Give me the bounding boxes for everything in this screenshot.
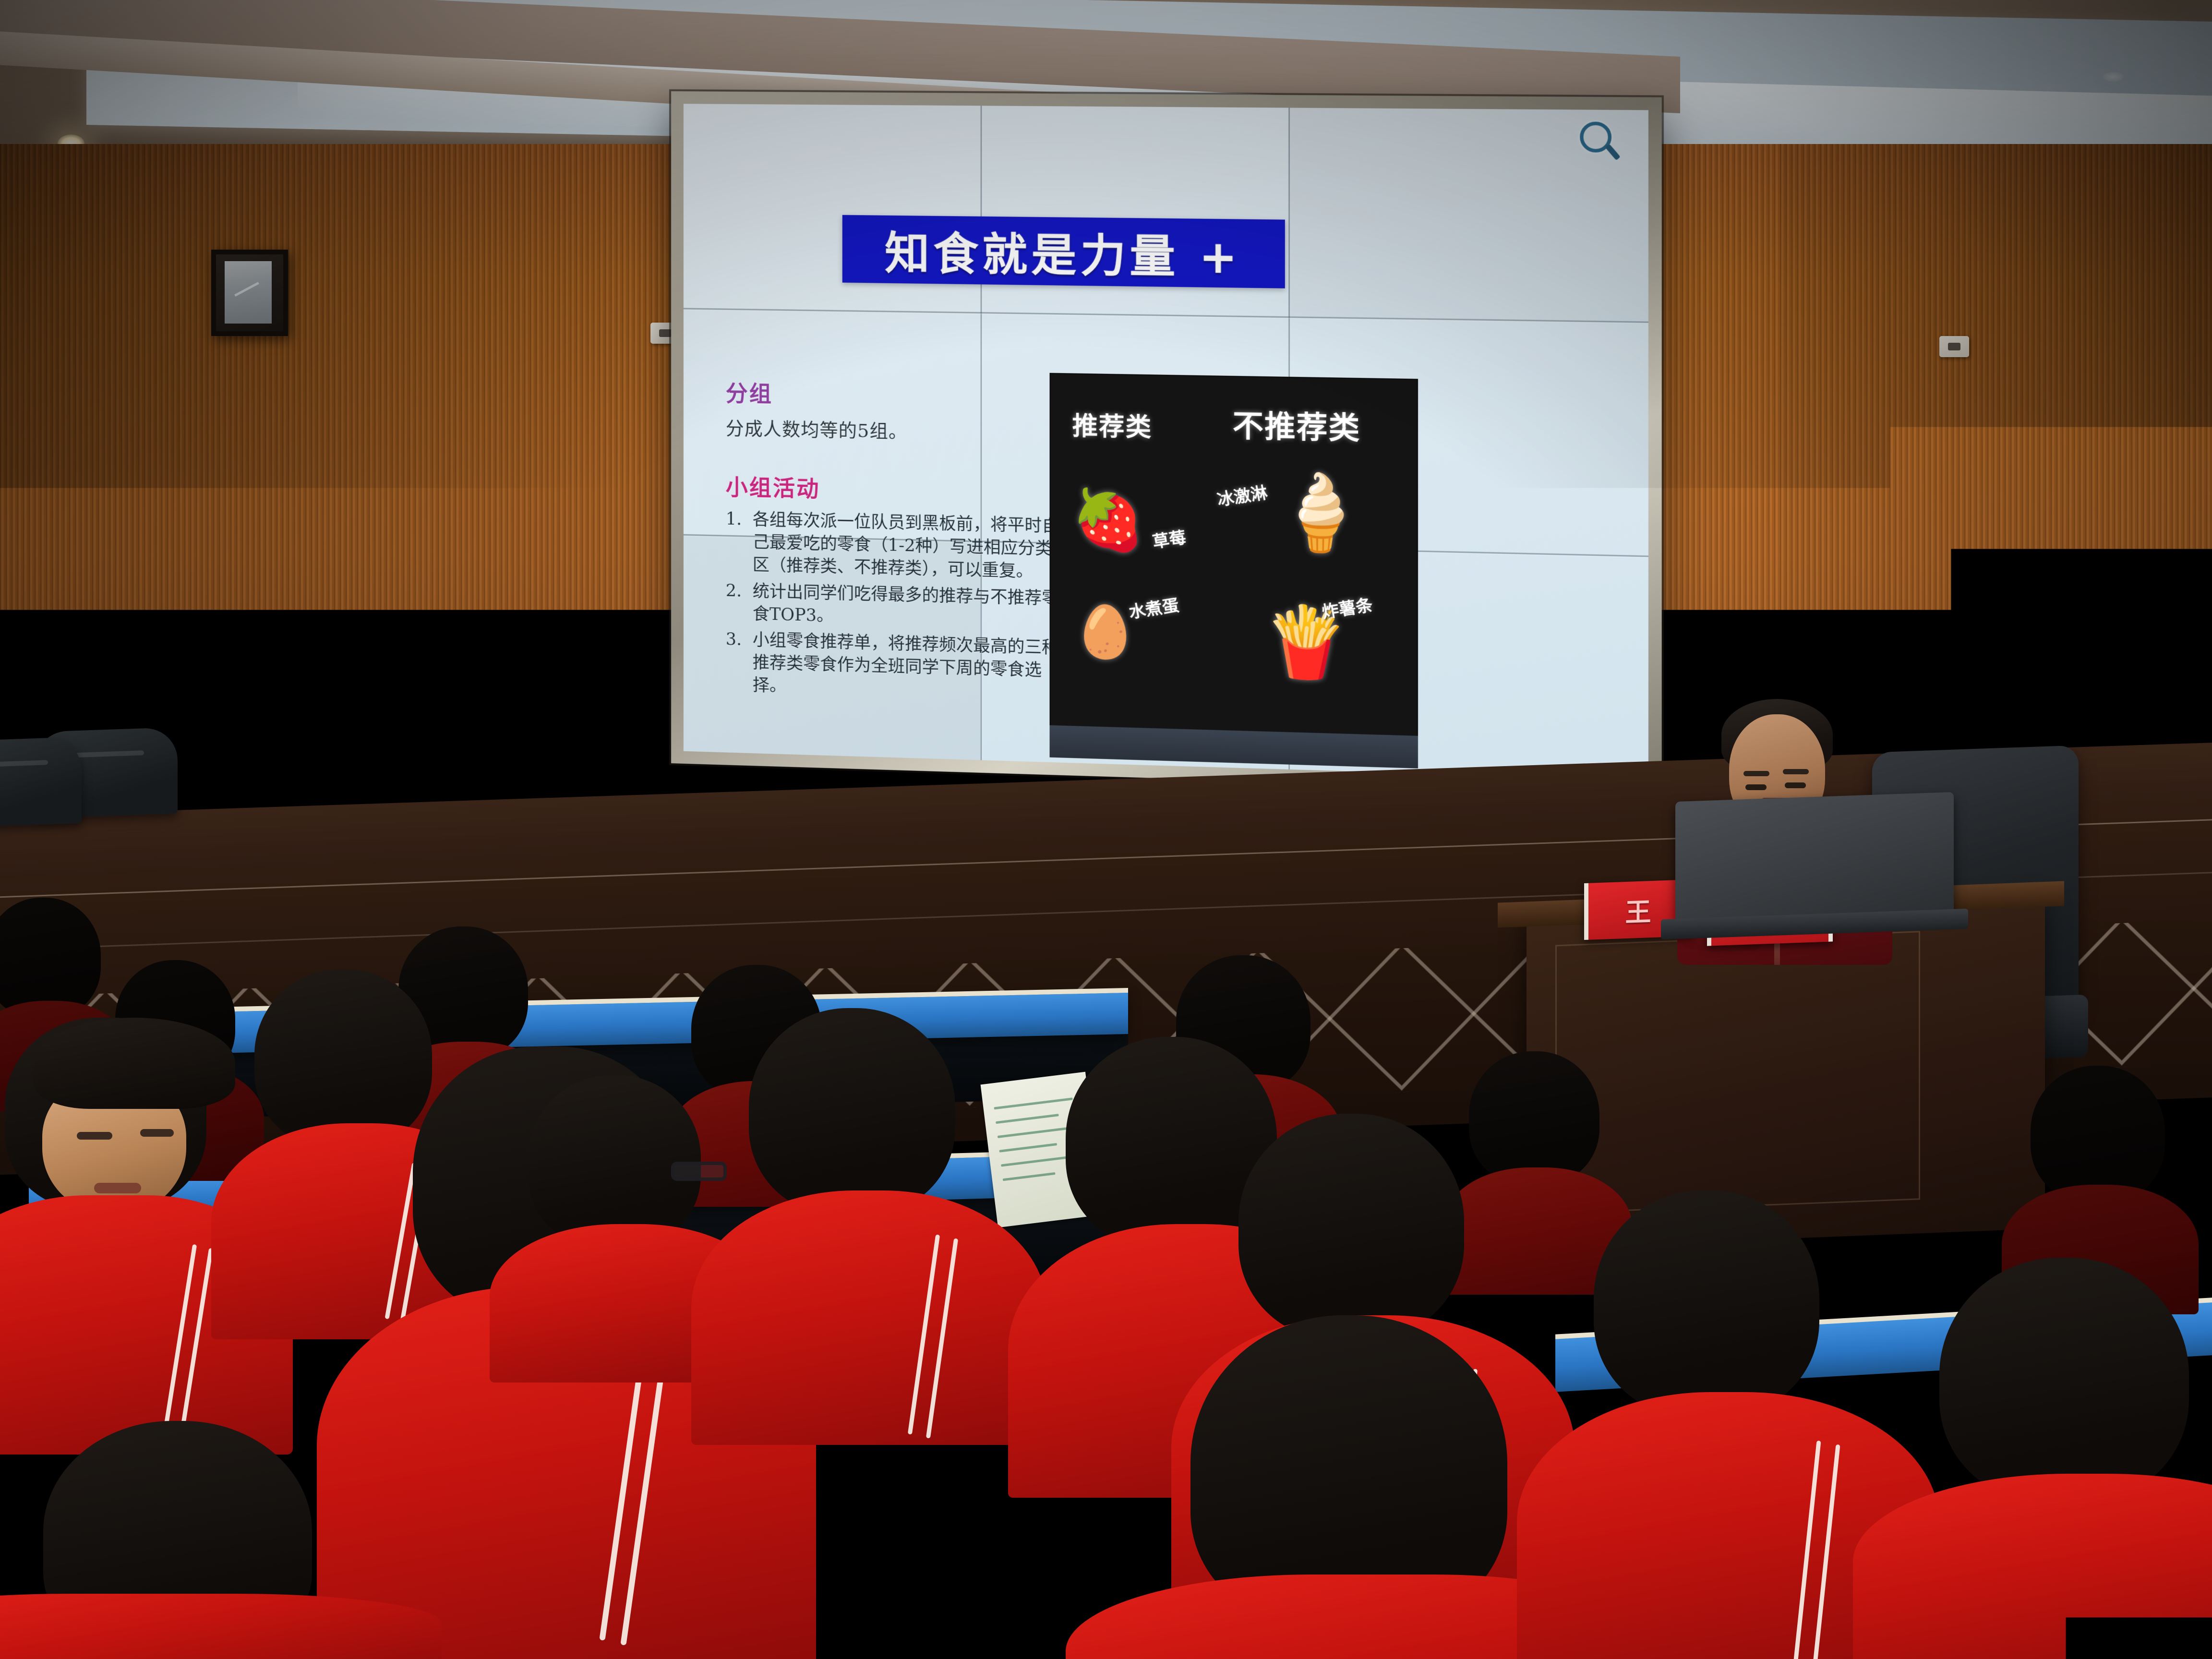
classroom-scene: 知食就是力量 + 分组 分成人数均等的5组。 小组活动 1. 各组每次派一位队员… — [0, 0, 2212, 1659]
list-item: 3. 小组零食推荐单，将推荐频次最高的三种推荐类零食作为全班同学下周的零食选择。 — [726, 628, 1066, 706]
list-item: 2. 统计出同学们吃得最多的推荐与不推荐零食TOP3。 — [726, 579, 1066, 633]
food-label-strawberry: 草莓 — [1150, 524, 1188, 553]
glasses-icon — [671, 1162, 727, 1181]
list-item-number: 3. — [726, 628, 742, 651]
list-item-text: 小组零食推荐单，将推荐频次最高的三种推荐类零食作为全班同学下周的零食选择。 — [753, 631, 1059, 696]
slide-logo — [1579, 120, 1622, 157]
panel-bottom-strip — [1050, 725, 1418, 769]
strawberry-icon: 🍓 — [1071, 490, 1145, 550]
laptop-screen — [1675, 792, 1954, 922]
slide-body: 分组 分成人数均等的5组。 小组活动 1. 各组每次派一位队员到黑板前，将平时自… — [726, 376, 1066, 710]
food-classification-panel: 推荐类 不推荐类 🍓 草莓 🥚 水煮蛋 🍦 冰激淋 🍟 炸薯条 — [1050, 373, 1418, 769]
wall-outlet — [1939, 336, 1969, 357]
food-label-ice-cream: 冰激淋 — [1215, 479, 1269, 510]
food-column-heading-not-recommended: 不推荐类 — [1233, 401, 1361, 448]
nameplate-speaker-text: 王 — [1625, 890, 1654, 929]
section-heading-grouping: 分组 — [726, 376, 1066, 414]
video-wall-screen[interactable]: 知食就是力量 + 分组 分成人数均等的5组。 小组活动 1. 各组每次派一位队员… — [671, 91, 1662, 793]
student-front-right — [1594, 1190, 1863, 1659]
videowall-seam — [684, 308, 1648, 323]
laptop[interactable] — [1661, 792, 1968, 946]
slide-title-text: 知食就是力量 + — [885, 217, 1241, 286]
wall-light-box — [211, 250, 288, 336]
food-label-boiled-egg: 水煮蛋 — [1127, 592, 1180, 623]
list-item-number: 1. — [726, 508, 742, 531]
food-column-heading-recommended: 推荐类 — [1072, 406, 1153, 444]
ceiling-vent — [2103, 72, 2124, 82]
section-text-grouping: 分成人数均等的5组。 — [726, 413, 1066, 446]
slide-title-banner: 知食就是力量 + — [842, 215, 1285, 289]
student-front — [749, 1008, 989, 1440]
list-item-text: 统计出同学们吃得最多的推荐与不推荐零食TOP3。 — [753, 582, 1059, 625]
student-sleeve — [0, 1219, 230, 1555]
sconce-glass — [225, 261, 272, 324]
ice-cream-icon: 🍦 — [1274, 475, 1367, 551]
video-wall-inner: 知食就是力量 + 分组 分成人数均等的5组。 小组活动 1. 各组每次派一位队员… — [684, 104, 1648, 780]
list-item: 1. 各组每次派一位队员到黑板前，将平时自己最爱吃的零食（1-2种）写进相应分类… — [726, 508, 1066, 584]
food-label-french-fries: 炸薯条 — [1320, 591, 1374, 623]
student-hair — [34, 1018, 235, 1109]
boiled-egg-icon: 🥚 — [1073, 606, 1137, 659]
magnifying-glass-icon — [1579, 120, 1617, 157]
presentation-slide: 知食就是力量 + 分组 分成人数均等的5组。 小组活动 1. 各组每次派一位队员… — [684, 104, 1648, 780]
student-front-right — [1939, 1258, 2212, 1659]
student-foreground-center — [1190, 1315, 1555, 1659]
watermark: fwrph.com — [2085, 1626, 2198, 1648]
stage-chair — [0, 737, 82, 828]
list-item-number: 2. — [726, 579, 742, 602]
section-heading-activity: 小组活动 — [726, 469, 1066, 508]
list-item-text: 各组每次派一位队员到黑板前，将平时自己最爱吃的零食（1-2种）写进相应分类区（推… — [753, 510, 1059, 581]
activity-list: 1. 各组每次派一位队员到黑板前，将平时自己最爱吃的零食（1-2种）写进相应分类… — [726, 508, 1066, 706]
